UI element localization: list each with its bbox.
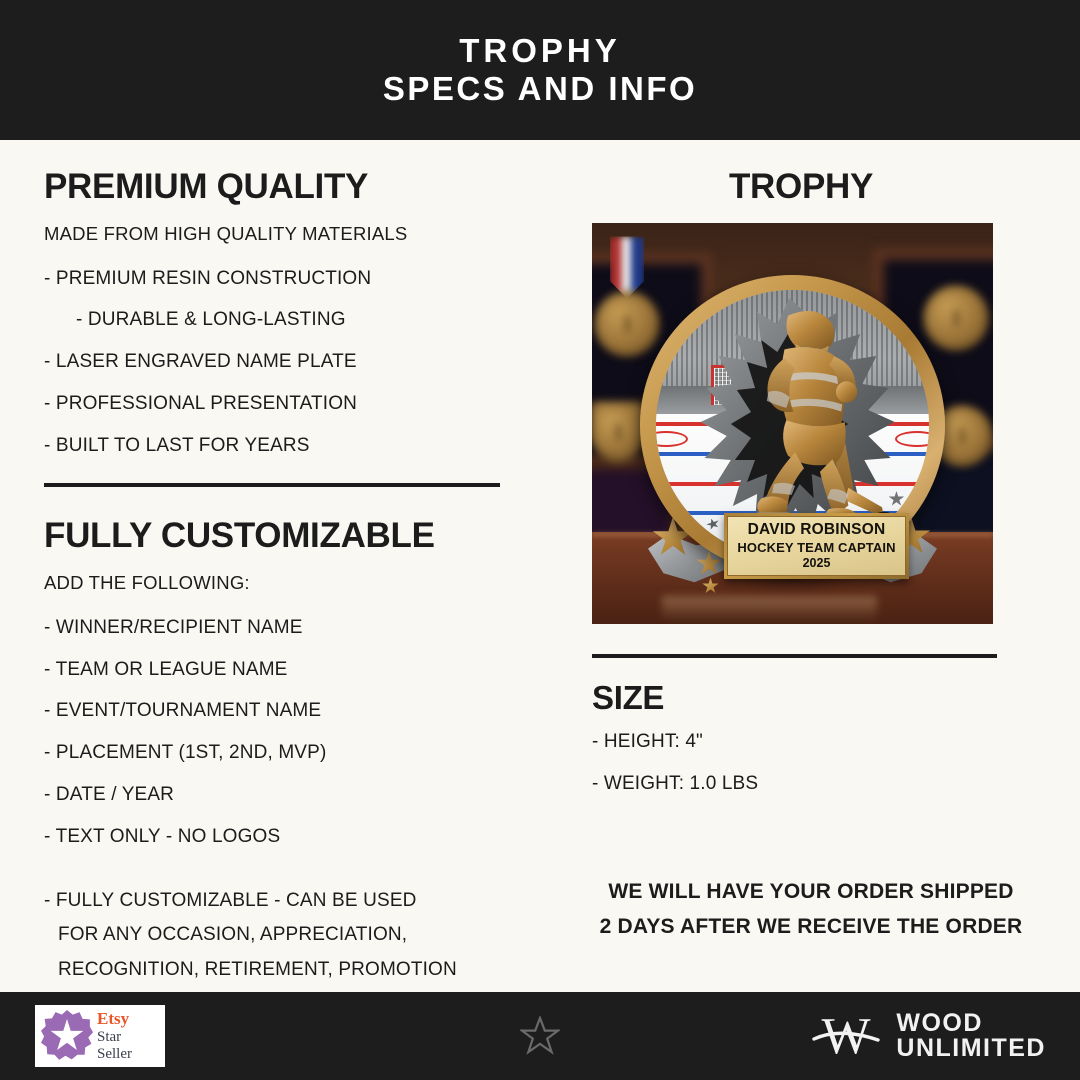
etsy-badge-line-1: Etsy: [97, 1009, 159, 1029]
page-footer-bar: Etsy Star Seller W WOOD UNLIMITED: [0, 992, 1080, 1080]
custom-bullet-winner-name: - WINNER/RECIPIENT NAME: [44, 616, 500, 640]
size-spec-height: - HEIGHT: 4": [592, 730, 1040, 754]
right-column: TROPHY: [540, 140, 1080, 992]
size-spec-weight: - WEIGHT: 1.0 LBS: [592, 772, 1040, 796]
quality-bullet-lasting: - BUILT TO LAST FOR YEARS: [44, 434, 500, 458]
shipping-note-line-1: WE WILL HAVE YOUR ORDER SHIPPED: [592, 875, 1030, 910]
nameplate-line-2: HOCKEY TEAM CAPTAIN: [737, 540, 895, 555]
trophy-product-photo: DAVID ROBINSON HOCKEY TEAM CAPTAIN 2025: [592, 223, 993, 624]
page-title-line-1: TROPHY: [459, 33, 621, 69]
custom-final-note: - FULLY CUSTOMIZABLE - CAN BE USED FOR A…: [44, 884, 500, 987]
custom-final-note-line-2: FOR ANY OCCASION, APPRECIATION,: [44, 918, 500, 952]
star-outline-icon: [520, 1016, 560, 1056]
shipping-note: WE WILL HAVE YOUR ORDER SHIPPED 2 DAYS A…: [592, 875, 1040, 944]
nameplate-line-3: 2025: [803, 556, 831, 570]
trophy-heading: TROPHY: [592, 168, 1040, 207]
etsy-badge-text: Etsy Star Seller: [97, 1009, 159, 1063]
fully-customizable-heading: FULLY CUSTOMIZABLE: [44, 517, 500, 556]
trophy-nameplate: DAVID ROBINSON HOCKEY TEAM CAPTAIN 2025: [724, 513, 909, 579]
size-heading: SIZE: [592, 680, 1040, 716]
trophy-figure: DAVID ROBINSON HOCKEY TEAM CAPTAIN 2025: [640, 275, 945, 575]
brand-w-monogram-icon: W: [810, 1007, 882, 1065]
shipping-note-line-2: 2 DAYS AFTER WE RECEIVE THE ORDER: [592, 910, 1030, 945]
premium-quality-heading: PREMIUM QUALITY: [44, 168, 500, 207]
content-area: PREMIUM QUALITY MADE FROM HIGH QUALITY M…: [0, 140, 1080, 992]
background-medal-3-icon: [592, 401, 646, 463]
page-title-line-2: SPECS AND INFO: [383, 71, 697, 107]
hockey-player-figure: [749, 306, 891, 538]
custom-bullet-event-name: - EVENT/TOURNAMENT NAME: [44, 699, 500, 723]
etsy-badge-line-2: Star Seller: [97, 1029, 159, 1063]
page-header-bar: TROPHY SPECS AND INFO: [0, 0, 1080, 140]
quality-bullet-durable: - DURABLE & LONG-LASTING: [44, 308, 500, 332]
etsy-star-seal-icon: [41, 1010, 93, 1062]
premium-quality-lead: MADE FROM HIGH QUALITY MATERIALS: [44, 223, 500, 245]
brand-name-line-1: WOOD: [896, 1011, 1046, 1037]
nameplate-line-1: DAVID ROBINSON: [748, 521, 886, 539]
fully-customizable-lead: ADD THE FOLLOWING:: [44, 572, 500, 594]
brand-name-text: WOOD UNLIMITED: [896, 1011, 1046, 1062]
quality-bullet-resin: - PREMIUM RESIN CONSTRUCTION: [44, 267, 500, 291]
base-gold-star-left-small-icon: [702, 578, 719, 595]
quality-bullet-presentation: - PROFESSIONAL PRESENTATION: [44, 392, 500, 416]
custom-bullet-team-name: - TEAM OR LEAGUE NAME: [44, 658, 500, 682]
section-divider-right: [592, 654, 997, 658]
custom-bullet-date-year: - DATE / YEAR: [44, 783, 500, 807]
custom-bullet-placement: - PLACEMENT (1ST, 2ND, MVP): [44, 741, 500, 765]
product-photo-wrapper: DAVID ROBINSON HOCKEY TEAM CAPTAIN 2025: [592, 223, 1040, 624]
brand-name-line-2: UNLIMITED: [896, 1036, 1046, 1062]
section-divider-left: [44, 483, 500, 487]
custom-final-note-line-1: - FULLY CUSTOMIZABLE - CAN BE USED: [44, 890, 417, 911]
spacer: [44, 866, 500, 884]
custom-final-note-line-3: RECOGNITION, RETIREMENT, PROMOTION: [44, 953, 500, 987]
left-column: PREMIUM QUALITY MADE FROM HIGH QUALITY M…: [0, 140, 540, 992]
quality-bullet-nameplate: - LASER ENGRAVED NAME PLATE: [44, 350, 500, 374]
table-reflection: [662, 596, 877, 622]
nameplate-engraving: DAVID ROBINSON HOCKEY TEAM CAPTAIN 2025: [727, 516, 906, 576]
etsy-star-seller-badge[interactable]: Etsy Star Seller: [35, 1005, 165, 1067]
custom-bullet-text-only: - TEXT ONLY - NO LOGOS: [44, 825, 500, 849]
brand-logo: W WOOD UNLIMITED: [810, 1007, 1046, 1065]
